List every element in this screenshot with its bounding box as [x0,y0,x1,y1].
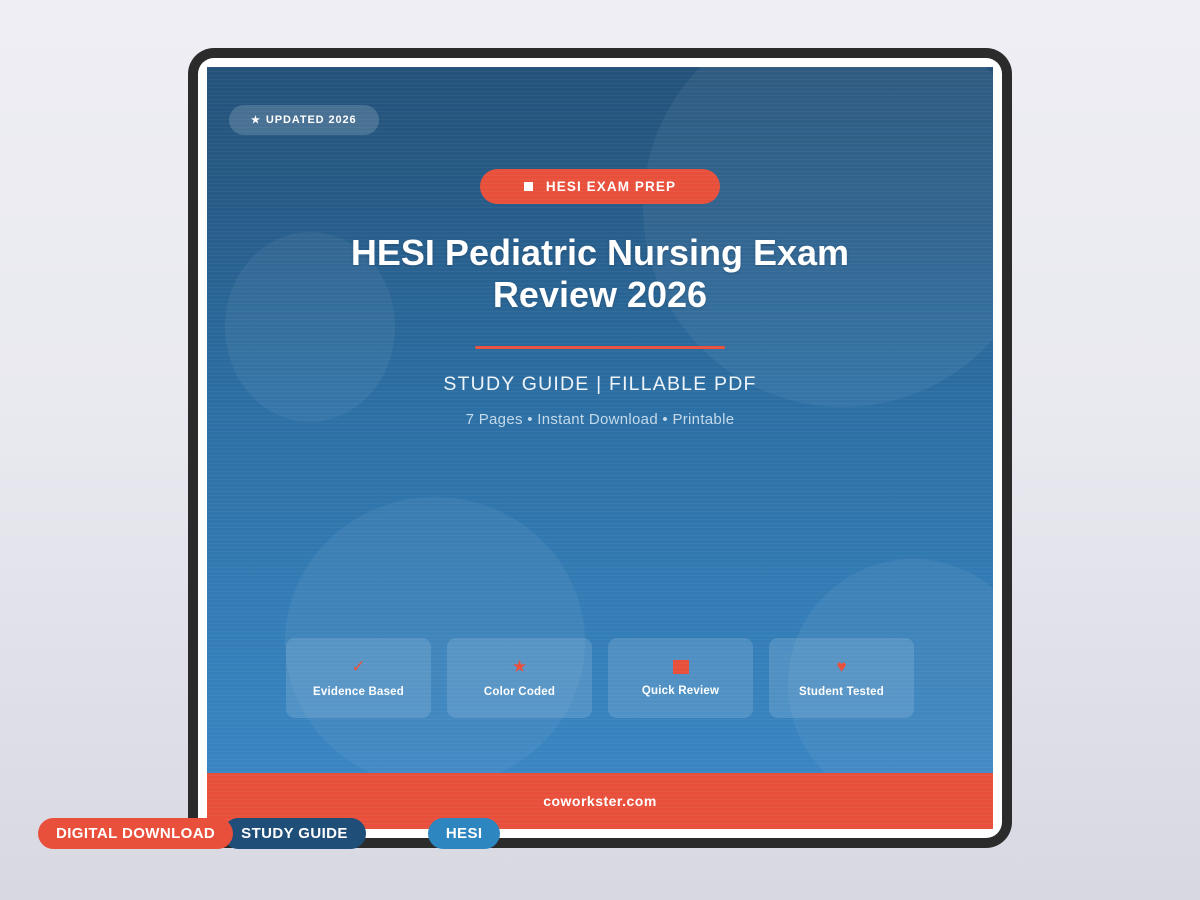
feature-card-list: ✓ Evidence Based ★ Color Coded Quick Rev… [207,638,993,718]
feature-card-student-tested: ♥ Student Tested [769,638,914,718]
square-icon [673,660,689,674]
ribbon-badge-group: DIGITAL DOWNLOAD STUDY GUIDE HESI [38,818,500,849]
layout-spacer [207,428,993,638]
title-divider [475,346,725,349]
star-icon: ★ [512,658,527,675]
page-title-line-1: HESI Pediatric Nursing Exam [247,232,953,274]
poster-canvas: ★UPDATED 2026 HESI EXAM PREP HESI Pediat… [207,67,993,829]
page-title-line-2: Review 2026 [247,274,953,316]
feature-label: Color Coded [484,686,555,698]
feature-card-color-coded: ★ Color Coded [447,638,592,718]
feature-label: Quick Review [642,685,719,697]
ribbon-digital-download: DIGITAL DOWNLOAD [38,818,233,849]
kicker-label: HESI EXAM PREP [546,179,676,194]
star-icon: ★ [251,115,261,126]
subtitle: STUDY GUIDE | FILLABLE PDF [207,373,993,396]
heart-icon: ♥ [836,658,846,675]
check-icon: ✓ [351,658,365,675]
page-title: HESI Pediatric Nursing Exam Review 2026 [207,232,993,316]
updated-badge-label: UPDATED 2026 [266,114,357,126]
meta-line: 7 Pages • Instant Download • Printable [207,411,993,428]
ribbon-hesi: HESI [428,818,501,849]
website-url: coworkster.com [543,793,657,809]
feature-card-evidence-based: ✓ Evidence Based [286,638,431,718]
poster-frame: ★UPDATED 2026 HESI EXAM PREP HESI Pediat… [188,48,1012,848]
feature-label: Evidence Based [313,686,404,698]
feature-card-quick-review: Quick Review [608,638,753,718]
square-icon [524,182,533,191]
updated-badge: ★UPDATED 2026 [229,105,379,135]
feature-label: Student Tested [799,686,884,698]
kicker-badge: HESI EXAM PREP [480,169,720,204]
poster-frame-inner: ★UPDATED 2026 HESI EXAM PREP HESI Pediat… [198,58,1002,838]
poster-content: ★UPDATED 2026 HESI EXAM PREP HESI Pediat… [207,67,993,829]
ribbon-study-guide: STUDY GUIDE [223,818,366,849]
